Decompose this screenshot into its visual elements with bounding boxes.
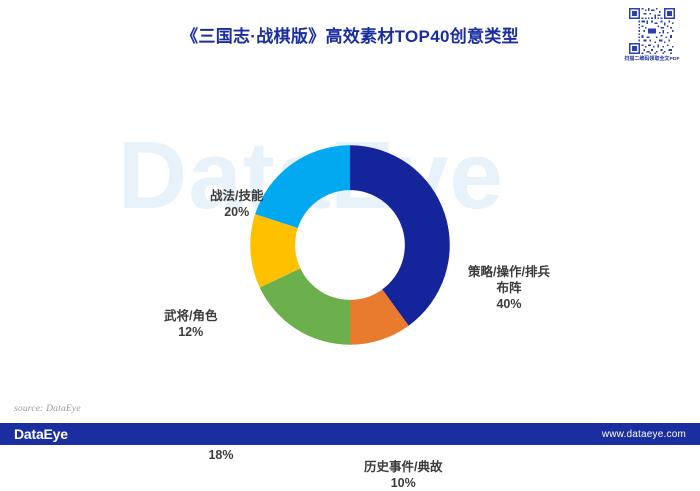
slice-name-history: 历史事件/典故 [364, 460, 442, 474]
page-title: 《三国志·战棋版》高效素材TOP40创意类型 [0, 22, 700, 47]
slice-name-hero: 武将/角色 [164, 309, 217, 323]
source-note: source: DataEye [14, 404, 81, 414]
donut-slice[interactable] [255, 145, 350, 228]
slice-name-line2: 布阵 [496, 281, 521, 295]
slice-label-hero: 武将/角色 12% [164, 308, 217, 340]
footer-bar: DataEye www.dataeye.com [0, 423, 700, 445]
donut-chart: 策略/操作/排兵 布阵 40% 历史事件/典故 10% 资源/福利/抽卡 18%… [0, 80, 700, 400]
qr-code-caption: 扫描二维码领取全文PDF [618, 55, 686, 62]
slice-name-tactics: 战法/技能 [210, 189, 263, 203]
slice-value-tactics: 20% [210, 204, 263, 220]
slice-name-line1: 策略/操作/排兵 [468, 265, 550, 279]
qr-code-badge[interactable]: 扫描二维码领取全文PDF [616, 8, 688, 62]
slice-value-hero: 12% [164, 324, 217, 340]
slice-value-strategy: 40% [468, 296, 550, 312]
slice-value-resource: 18% [180, 447, 262, 463]
slice-label-tactics: 战法/技能 20% [210, 188, 263, 220]
qr-code-icon [629, 8, 675, 54]
slice-value-history: 10% [364, 475, 442, 491]
chart-canvas: 《三国志·战棋版》高效素材TOP40创意类型 [0, 0, 700, 445]
slice-label-history: 历史事件/典故 10% [364, 459, 442, 491]
footer-url[interactable]: www.dataeye.com [602, 429, 686, 440]
slice-label-strategy: 策略/操作/排兵 布阵 40% [468, 264, 550, 312]
footer-logo: DataEye [14, 426, 68, 442]
donut-svg [245, 140, 455, 350]
